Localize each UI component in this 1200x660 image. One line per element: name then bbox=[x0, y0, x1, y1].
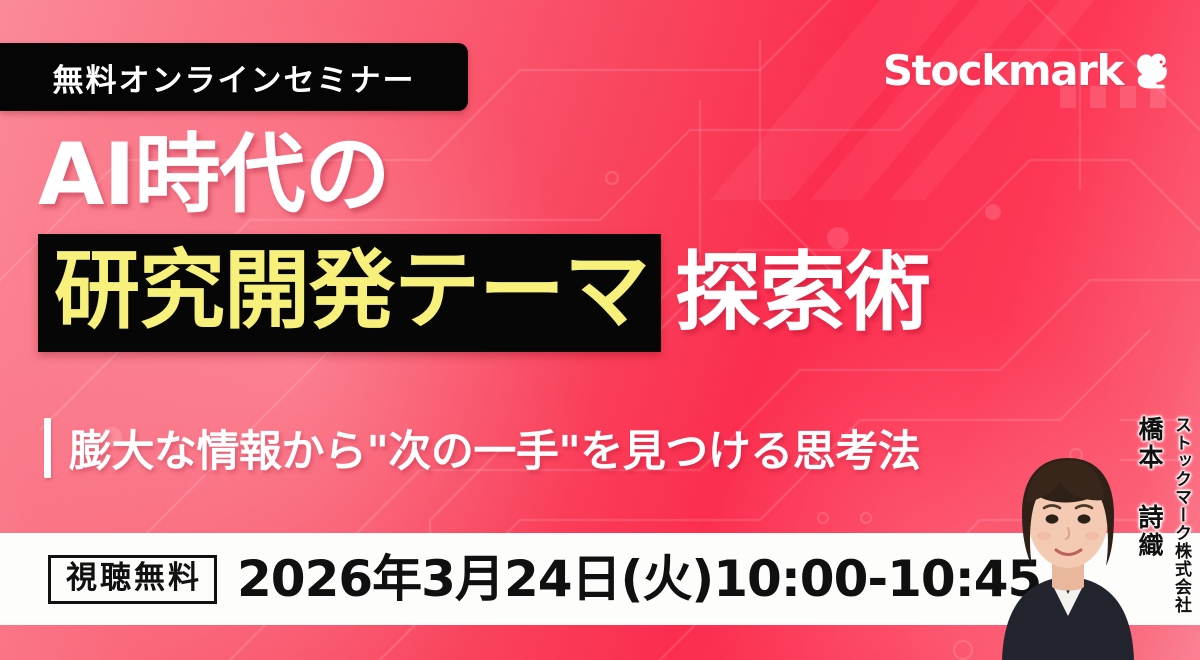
brand-logo[interactable]: Stockmark bbox=[883, 48, 1178, 94]
presenter-caption: 橋本 詩織 ストックマーク株式会社 bbox=[1131, 416, 1194, 614]
subtitle-text: 膨大な情報から"次の一手"を見つける思考法 bbox=[69, 417, 920, 479]
brand-wordmark: Stockmark bbox=[883, 50, 1123, 92]
seminar-type-badge: 無料オンラインセミナー bbox=[0, 43, 468, 111]
headline-highlight-box: 研究開発テーマ bbox=[38, 234, 661, 352]
headline-line-1: AI時代の bbox=[38, 132, 1048, 220]
seminar-banner: 無料オンラインセミナー Stockmark AI時代の 研究開発テーマ 探索術 … bbox=[0, 0, 1200, 660]
presenter-name: 橋本 詩織 bbox=[1131, 416, 1167, 560]
seminar-type-label: 無料オンラインセミナー bbox=[53, 55, 416, 100]
headline-line-2-plain: 探索術 bbox=[661, 250, 930, 336]
subtitle-accent-bar bbox=[44, 418, 51, 478]
presenter-company: ストックマーク株式会社 bbox=[1169, 416, 1194, 614]
presenter-photo bbox=[994, 378, 1142, 660]
schedule-inner: 視聴無料 2026年3月24日(火)10:00-10:45 bbox=[0, 554, 1041, 604]
subtitle-block: 膨大な情報から"次の一手"を見つける思考法 bbox=[44, 417, 920, 479]
headline-block: AI時代の 研究開発テーマ 探索術 bbox=[38, 132, 1048, 352]
headline-line-2: 研究開発テーマ 探索術 bbox=[38, 234, 1048, 352]
squirrel-icon bbox=[1132, 48, 1178, 94]
free-admission-badge: 視聴無料 bbox=[48, 555, 217, 604]
event-datetime: 2026年3月24日(火)10:00-10:45 bbox=[237, 554, 1041, 604]
